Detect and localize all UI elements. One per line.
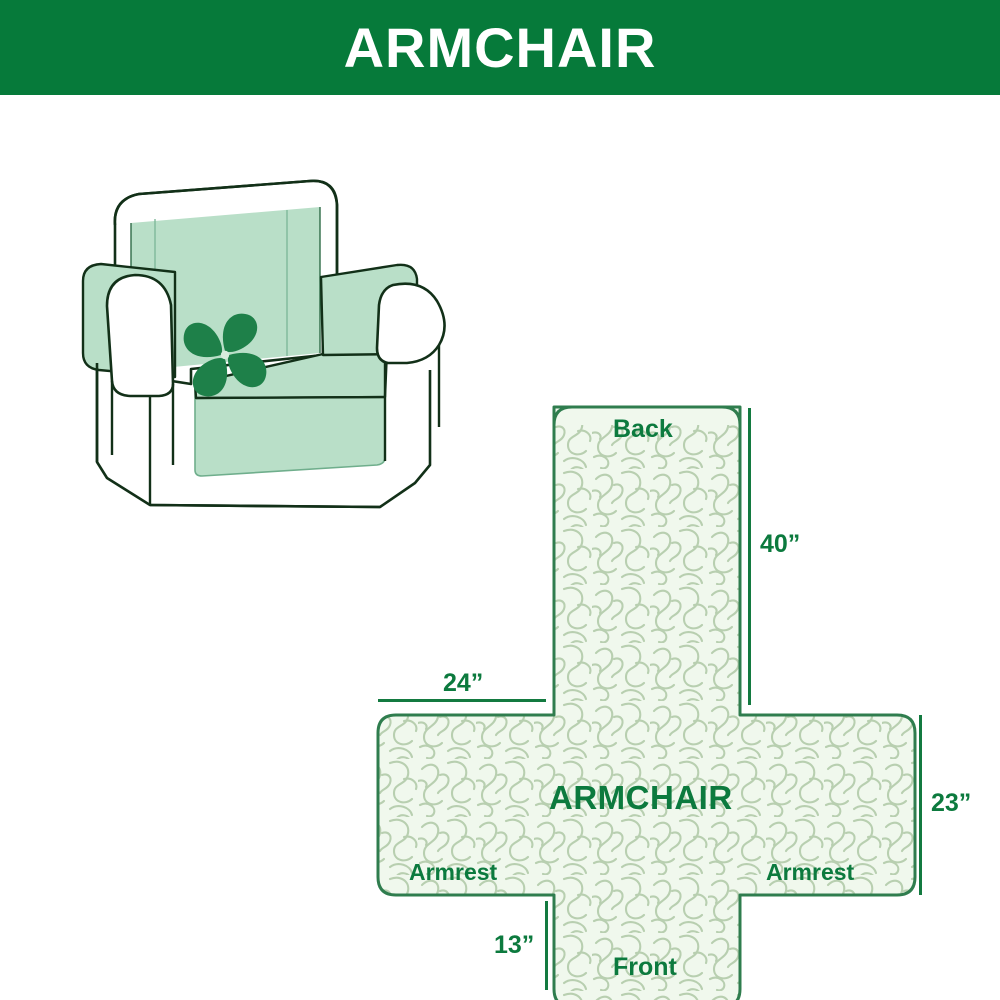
pinwheel-fan-logo <box>184 314 267 397</box>
cross-pattern-diagram <box>360 295 960 1000</box>
dimension-label-body-height: 23” <box>931 791 971 816</box>
dimension-line-back-width <box>378 699 546 702</box>
section-label-front: Front <box>613 955 677 980</box>
dimension-label-front-height: 13” <box>494 933 534 958</box>
dimension-label-back-height: 40” <box>760 532 800 557</box>
armchair-size-chart: ARMCHAIR <box>0 0 1000 1000</box>
dimension-line-back-height <box>748 408 751 705</box>
diagram-area: Back ARMCHAIR Armrest Armrest Front 40” … <box>0 95 1000 1000</box>
section-label-back: Back <box>613 417 673 442</box>
dimension-line-front-height <box>545 901 548 990</box>
section-label-armrest-right: Armrest <box>766 861 854 884</box>
page-title: ARMCHAIR <box>344 20 657 76</box>
dimension-line-body-height <box>919 715 922 895</box>
section-label-armrest-left: Armrest <box>409 861 497 884</box>
dimension-label-back-width: 24” <box>443 671 483 696</box>
header-banner: ARMCHAIR <box>0 0 1000 95</box>
pattern-center-label: ARMCHAIR <box>549 781 733 814</box>
